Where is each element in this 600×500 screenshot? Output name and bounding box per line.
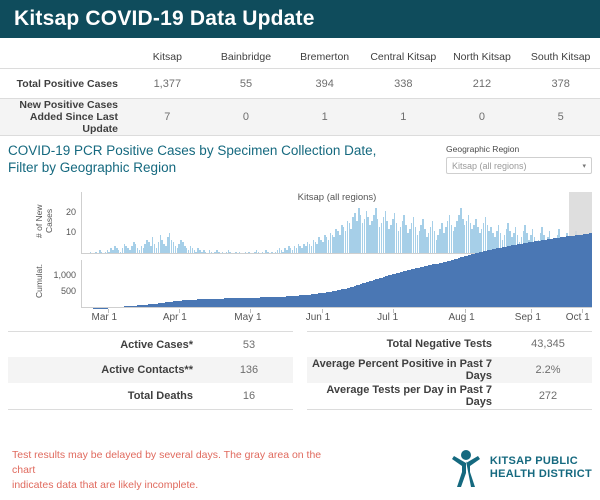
row-label-new-positive-line2: Added Since Last Update [0, 111, 118, 135]
column-header-north-kitsap: North Kitsap [443, 46, 522, 69]
cell-total-south: 378 [521, 69, 600, 99]
cell-new-north: 0 [443, 99, 522, 136]
cell-total-bremerton: 394 [285, 69, 364, 99]
x-axis: Mar 1Apr 1May 1Jun 1Jul 1Aug 1Sep 1Oct 1 [82, 309, 592, 325]
y-tick-daily-20: 20 [36, 207, 76, 217]
page-title: Kitsap COVID-19 Data Update [14, 7, 315, 31]
daily-y-axis [81, 192, 82, 254]
label-active-contacts: Active Contacts** [8, 357, 205, 383]
table-row: Active Cases* 53 [8, 332, 293, 358]
disclaimer-line1: Test results may be delayed by several d… [12, 448, 342, 478]
table-row: Total Deaths 16 [8, 383, 293, 409]
chart-title-line1: COVID-19 PCR Positive Cases by Specimen … [8, 142, 428, 159]
chart-title: COVID-19 PCR Positive Cases by Specimen … [8, 142, 428, 176]
table-row: Average Percent Positive in Past 7 Days … [307, 357, 592, 383]
y-tick-daily-10: 10 [36, 227, 76, 237]
y-axis-label-cumulative: Cumulat. [34, 258, 44, 304]
row-label-new-positive: New Positive Cases Added Since Last Upda… [0, 99, 128, 136]
title-bar: Kitsap COVID-19 Data Update [0, 0, 600, 38]
geographic-region-filter: Geographic Region Kitsap (all regions) ▾ [446, 144, 592, 174]
column-header-bainbridge: Bainbridge [207, 46, 286, 69]
x-tick-label: Oct 1 [566, 312, 590, 323]
column-header-south-kitsap: South Kitsap [521, 46, 600, 69]
cell-new-south: 5 [521, 99, 600, 136]
row-label-total-positive: Total Positive Cases [0, 69, 128, 99]
cumulative-cases-panel [82, 260, 592, 308]
geographic-region-label: Geographic Region [446, 144, 592, 154]
table-row: Total Negative Tests 43,345 [307, 332, 592, 357]
label-avg-percent-positive: Average Percent Positive in Past 7 Days [307, 357, 504, 383]
disclaimer-note: Test results may be delayed by several d… [12, 448, 342, 493]
cell-total-kitsap: 1,377 [128, 69, 207, 99]
cumulative-area-bars [82, 260, 592, 308]
table-row: Active Contacts** 136 [8, 357, 293, 383]
cell-total-bainbridge: 55 [207, 69, 286, 99]
disclaimer-line2: indicates data that are likely incomplet… [12, 478, 342, 493]
header-spacer [0, 46, 128, 69]
organization-logo: KITSAP PUBLIC HEALTH DISTRICT [449, 448, 592, 488]
chart-title-line2: Filter by Geographic Region [8, 159, 428, 176]
geographic-region-select[interactable]: Kitsap (all regions) ▾ [446, 157, 592, 174]
value-total-negative-tests: 43,345 [504, 332, 592, 357]
column-header-kitsap: Kitsap [128, 46, 207, 69]
cell-total-central: 338 [364, 69, 443, 99]
value-avg-tests-per-day: 272 [504, 383, 592, 410]
region-summary-table: Kitsap Bainbridge Bremerton Central Kits… [0, 46, 600, 136]
logo-line2: HEALTH DISTRICT [490, 468, 592, 481]
x-tick-label: Jun 1 [306, 312, 330, 323]
table-header-row: Kitsap Bainbridge Bremerton Central Kits… [0, 46, 600, 69]
y-tick-cumulative-500: 500 [36, 286, 76, 296]
cumulative-y-axis [81, 260, 82, 308]
label-avg-tests-per-day: Average Tests per Day in Past 7 Days [307, 383, 504, 410]
value-active-cases: 53 [205, 332, 293, 358]
chevron-down-icon: ▾ [582, 162, 586, 170]
table-bottom-rule [0, 136, 600, 137]
value-active-contacts: 136 [205, 357, 293, 383]
person-figure-icon [449, 448, 483, 488]
x-tick-label: Apr 1 [163, 312, 187, 323]
right-summary-table: Total Negative Tests 43,345 Average Perc… [307, 331, 592, 410]
cumulative-baseline [82, 307, 592, 308]
cell-new-kitsap: 7 [128, 99, 207, 136]
table-row: Average Tests per Day in Past 7 Days 272 [307, 383, 592, 410]
dashboard-page: Kitsap COVID-19 Data Update Kitsap Bainb… [0, 0, 600, 500]
value-avg-percent-positive: 2.2% [504, 357, 592, 383]
column-header-central-kitsap: Central Kitsap [364, 46, 443, 69]
x-tick-label: May 1 [234, 312, 261, 323]
cell-new-central: 1 [364, 99, 443, 136]
column-header-bremerton: Bremerton [285, 46, 364, 69]
cell-total-north: 212 [443, 69, 522, 99]
label-total-negative-tests: Total Negative Tests [307, 332, 504, 357]
summary-tables: Active Cases* 53 Active Contacts** 136 T… [0, 331, 600, 410]
label-total-deaths: Total Deaths [8, 383, 205, 409]
value-total-deaths: 16 [205, 383, 293, 409]
row-label-new-positive-line1: New Positive Cases [0, 99, 118, 111]
table-row-new-positive: New Positive Cases Added Since Last Upda… [0, 99, 600, 136]
cell-new-bainbridge: 0 [207, 99, 286, 136]
cell-new-bremerton: 1 [285, 99, 364, 136]
table-row-total-positive: Total Positive Cases 1,377 55 394 338 21… [0, 69, 600, 99]
logo-line1: KITSAP PUBLIC [490, 455, 592, 468]
x-tick-label: Mar 1 [92, 312, 118, 323]
label-active-cases: Active Cases* [8, 332, 205, 358]
logo-text: KITSAP PUBLIC HEALTH DISTRICT [490, 455, 592, 481]
left-summary-table: Active Cases* 53 Active Contacts** 136 T… [8, 331, 293, 410]
x-tick-label: Sep 1 [515, 312, 541, 323]
x-tick-label: Aug 1 [449, 312, 475, 323]
y-tick-cumulative-1000: 1,000 [36, 270, 76, 280]
geographic-region-value: Kitsap (all regions) [452, 161, 527, 171]
x-tick-label: Jul 1 [377, 312, 398, 323]
